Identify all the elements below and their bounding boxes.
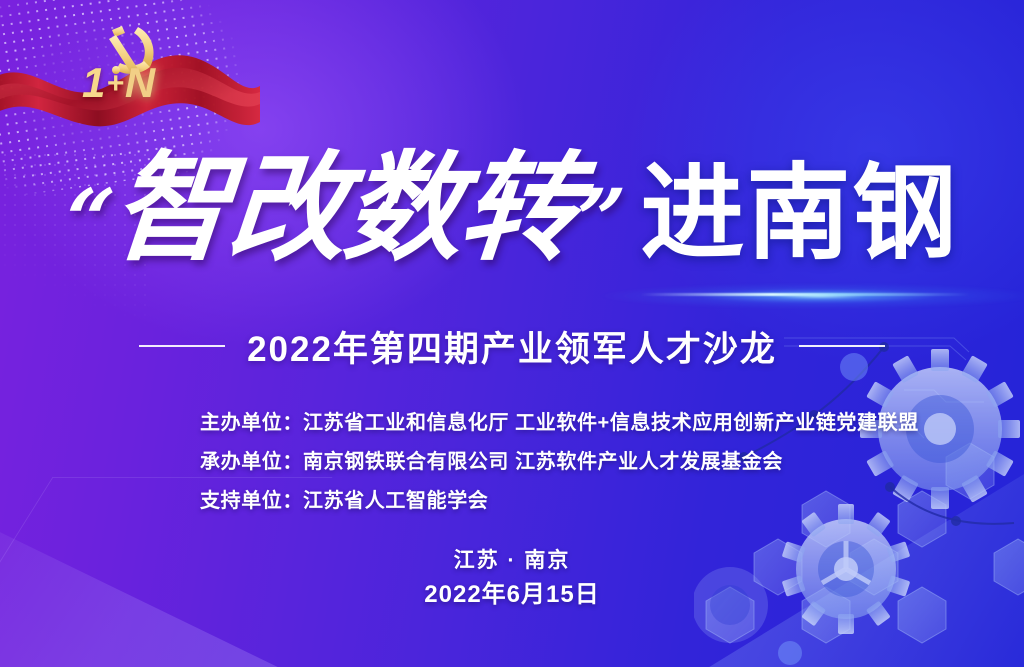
event-location: 江苏 · 南京: [0, 545, 1024, 577]
headline-bold-text: 进南钢: [640, 139, 958, 289]
rule-right: [799, 345, 885, 347]
event-poster: 1+N: [0, 0, 1024, 667]
poster-footer: 江苏 · 南京 2022年6月15日: [0, 545, 1024, 613]
page-title: “智改数转”进南钢: [0, 133, 1024, 298]
organizer-supporter: 支持单位：江苏省人工智能学会: [200, 482, 920, 521]
headline-main-text: 智改数转: [106, 138, 582, 277]
organizer-block: 主办单位：江苏省工业和信息化厅 工业软件+信息技术应用创新产业链党建联盟 承办单…: [200, 404, 920, 521]
subtitle-row: 2022年第四期产业领军人才沙龙: [0, 318, 1024, 374]
quote-close: ”: [571, 170, 626, 269]
headline-calligraphy: “智改数转”: [59, 133, 630, 295]
poster-content: “智改数转”进南钢 2022年第四期产业领军人才沙龙 主办单位：江苏省工业和信息…: [0, 0, 1024, 667]
event-date: 2022年6月15日: [0, 577, 1024, 613]
organizer-host: 主办单位：江苏省工业和信息化厅 工业软件+信息技术应用创新产业链党建联盟: [200, 404, 920, 443]
organizer-undertaker: 承办单位：南京钢铁联合有限公司 江苏软件产业人才发展基金会: [200, 443, 920, 482]
event-subtitle: 2022年第四期产业领军人才沙龙: [247, 321, 777, 372]
rule-left: [139, 345, 225, 347]
